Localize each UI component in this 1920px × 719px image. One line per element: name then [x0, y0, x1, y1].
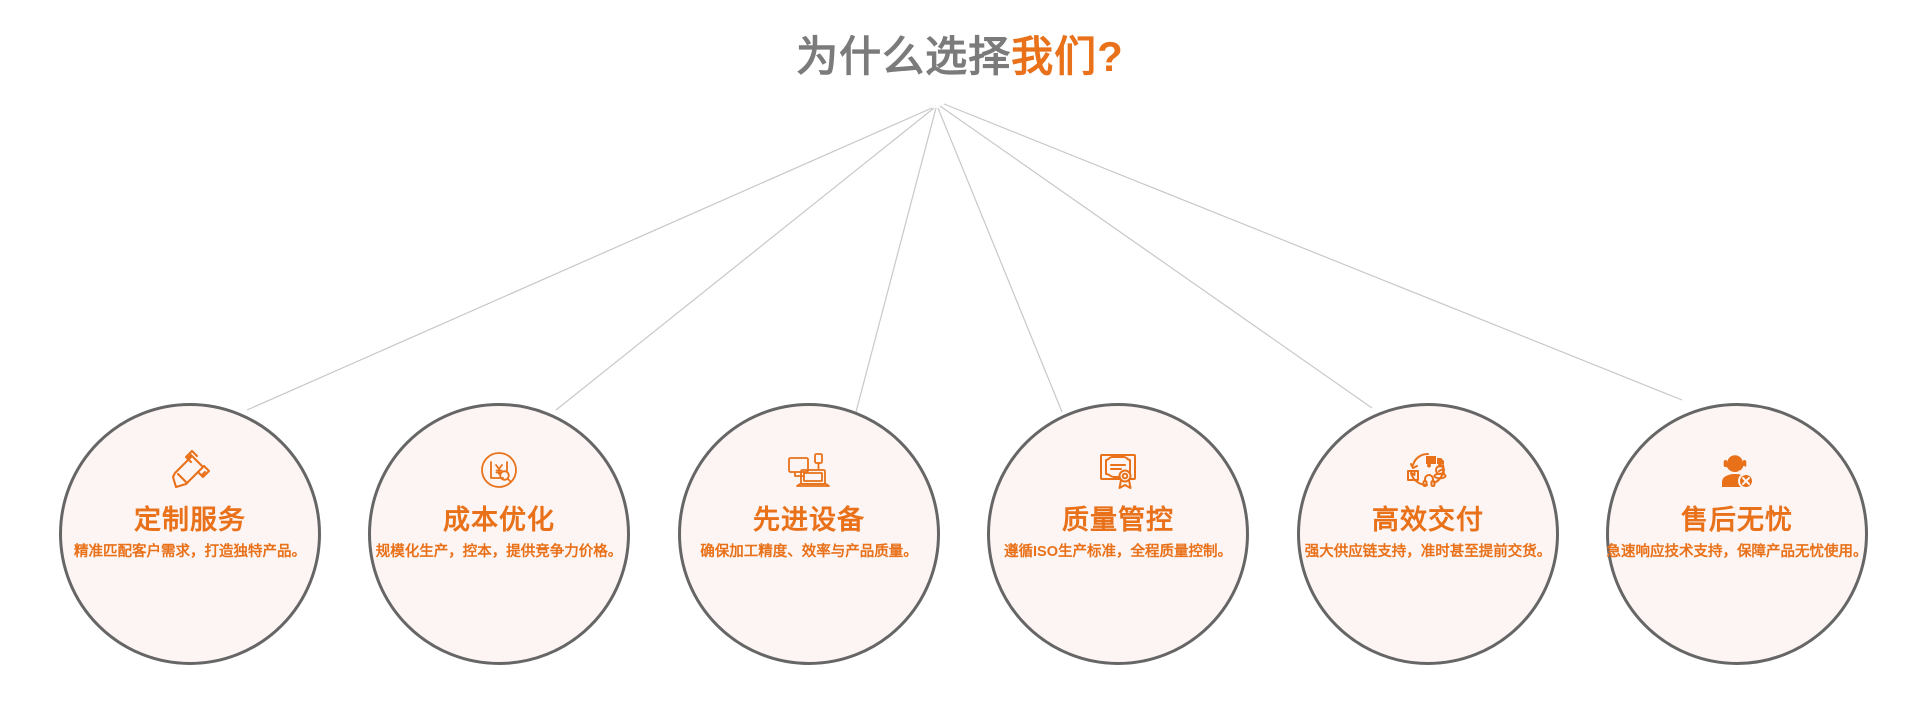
feature-description: 强大供应链支持，准时甚至提前交货。 — [1305, 543, 1552, 562]
feature-description: 规模化生产，控本，提供竞争力价格。 — [376, 543, 623, 562]
supply-chain-icon — [1402, 444, 1454, 496]
cost-search-icon — [475, 444, 523, 496]
feature-title: 成本优化 — [443, 504, 555, 536]
connector-line-6 — [944, 104, 1682, 400]
page-title-plain: 为什么选择 — [796, 33, 1011, 80]
pencil-ruler-icon — [166, 444, 214, 496]
feature-description: 确保加工精度、效率与产品质量。 — [700, 543, 918, 562]
feature-title: 定制服务 — [134, 504, 246, 536]
page-title-accent: 我们? — [1011, 33, 1124, 80]
headset-support-icon — [1713, 444, 1761, 496]
feature-title: 售后无忧 — [1681, 504, 1793, 536]
feature-circle-efficient-delivery[interactable]: 高效交付 强大供应链支持，准时甚至提前交货。 — [1297, 403, 1559, 665]
feature-description: 遵循ISO生产标准，全程质量控制。 — [1004, 543, 1232, 562]
feature-circle-advanced-equipment[interactable]: 先进设备 确保加工精度、效率与产品质量。 — [678, 403, 940, 665]
feature-title: 先进设备 — [753, 504, 865, 536]
connector-line-2 — [556, 108, 934, 410]
feature-circles-row: 定制服务 精准匹配客户需求，打造独特产品。 成本优化 规模化生产，控本，提供竞争… — [0, 403, 1920, 668]
feature-circle-cost-optimization[interactable]: 成本优化 规模化生产，控本，提供竞争力价格。 — [368, 403, 630, 665]
feature-title: 质量管控 — [1062, 504, 1174, 536]
page-title: 为什么选择我们? — [0, 30, 1920, 85]
connector-line-1 — [247, 108, 932, 410]
certificate-icon — [1094, 444, 1142, 496]
feature-circle-after-sales[interactable]: 售后无忧 急速响应技术支持，保障产品无忧使用。 — [1606, 403, 1868, 665]
feature-description: 急速响应技术支持，保障产品无忧使用。 — [1607, 543, 1868, 562]
feature-title: 高效交付 — [1372, 504, 1484, 536]
connector-line-3 — [856, 108, 936, 412]
feature-description: 精准匹配客户需求，打造独特产品。 — [74, 543, 306, 562]
computer-equipment-icon — [784, 444, 834, 496]
connector-line-5 — [940, 106, 1372, 408]
connector-line-4 — [938, 108, 1062, 412]
feature-circle-quality-control[interactable]: 质量管控 遵循ISO生产标准，全程质量控制。 — [987, 403, 1249, 665]
feature-circle-custom-service[interactable]: 定制服务 精准匹配客户需求，打造独特产品。 — [59, 403, 321, 665]
